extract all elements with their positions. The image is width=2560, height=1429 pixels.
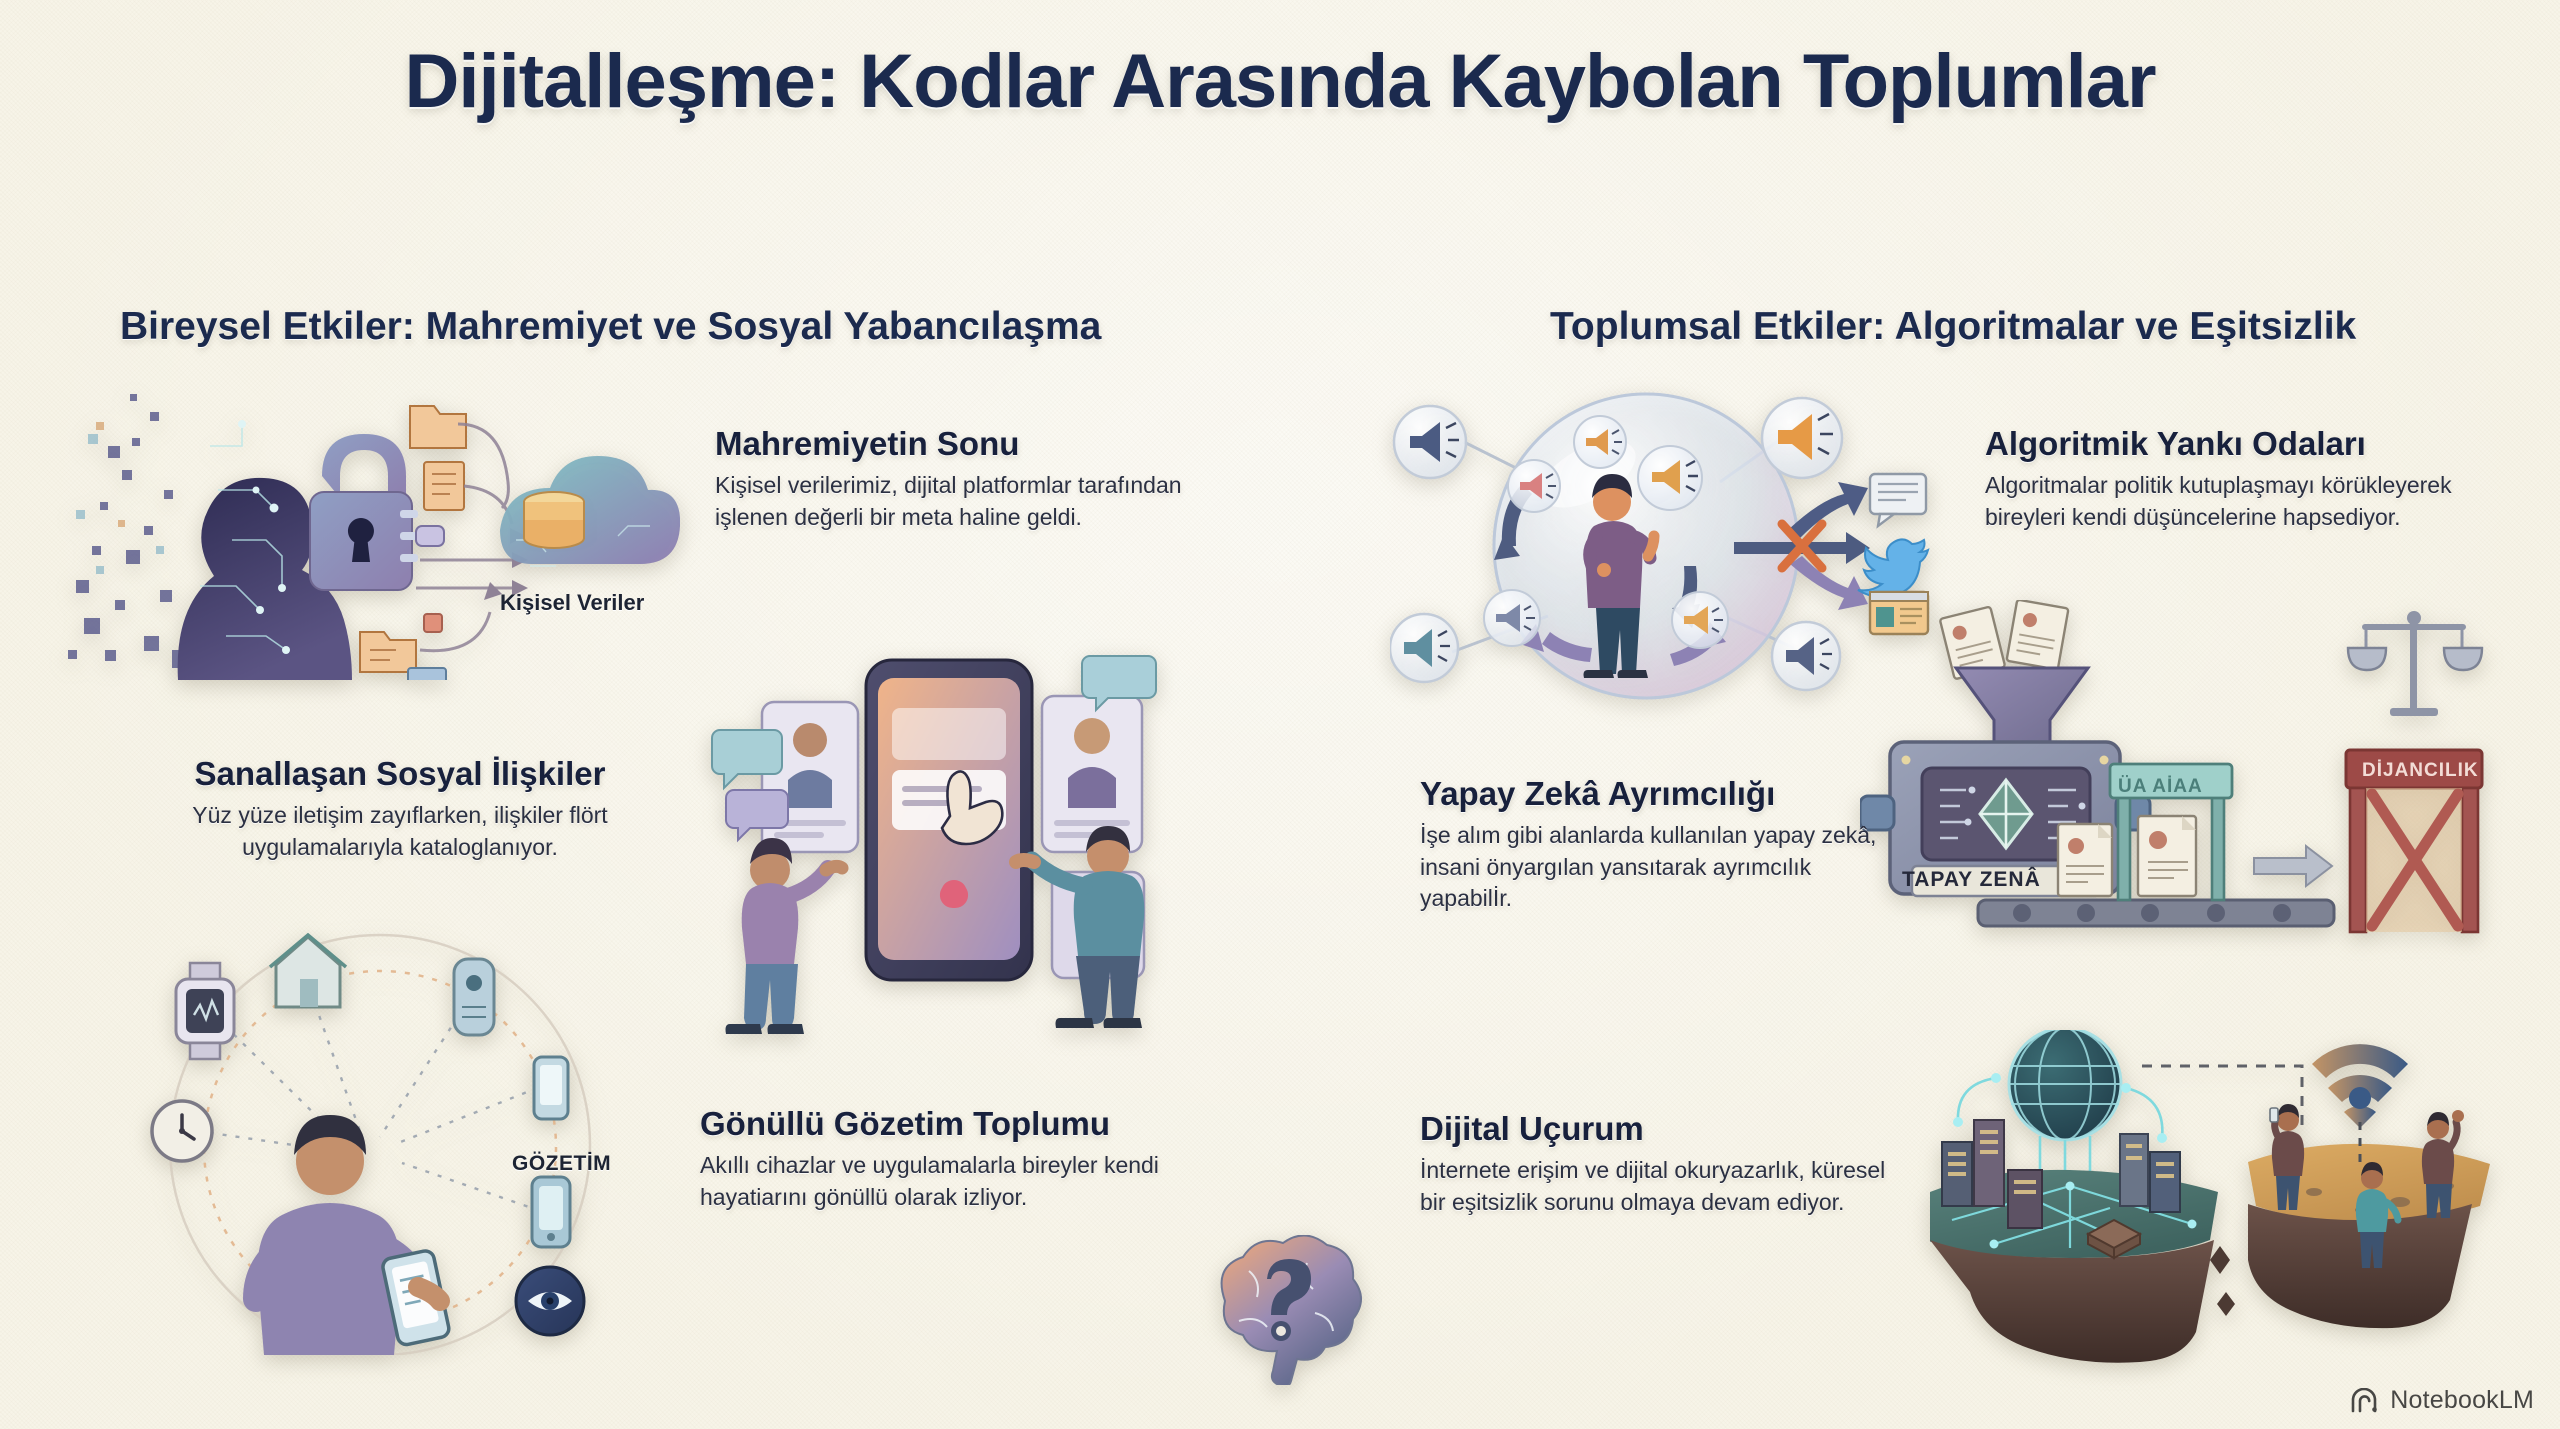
- illustration-social-relationships: [660, 620, 1220, 1040]
- body-ai: İşe alım gibi alanlarda kullanılan yapay…: [1420, 820, 1890, 915]
- body-surveillance: Akıllı cihazlar ve uygulamalarla bireyle…: [700, 1150, 1200, 1213]
- heading-surveillance: Gönüllü Gözetim Toplumu: [700, 1105, 1200, 1143]
- label-surveillance: GÖZETİM: [512, 1152, 611, 1176]
- illustration-voluntary-surveillance: [80, 915, 700, 1355]
- label-ai-machine: TAPAY ZENÂ: [1902, 868, 2041, 892]
- body-echo: Algoritmalar politik kutuplaşmayı körükl…: [1985, 470, 2455, 533]
- brain-question-icon: [1195, 1235, 1375, 1385]
- label-personal-data: Kişisel Veriler: [500, 590, 644, 616]
- page-title: Dijitalleşme: Kodlar Arasında Kaybolan T…: [0, 38, 2560, 125]
- label-ai-rejected: DİJANCILIK: [2362, 760, 2479, 782]
- text-block-surveillance: Gönüllü Gözetim Toplumu Akıllı cihazlar …: [700, 1105, 1200, 1213]
- text-block-digital-divide: Dijital Uçurum İnternete erişim ve dijit…: [1420, 1110, 1900, 1218]
- label-ai-gate: ÜA AİAA: [2118, 776, 2203, 798]
- heading-ai: Yapay Zekâ Ayrımcılığı: [1420, 775, 1890, 813]
- notebooklm-logo-icon: [2350, 1388, 2380, 1414]
- heading-privacy: Mahremiyetin Sonu: [715, 425, 1185, 463]
- heading-social: Sanallaşan Sosyal İlişkiler: [150, 755, 650, 793]
- text-block-ai-discrimination: Yapay Zekâ Ayrımcılığı İşe alım gibi ala…: [1420, 775, 1890, 915]
- section-header-societal: Toplumsal Etkiler: Algoritmalar ve Eşits…: [1550, 305, 2356, 349]
- notebooklm-watermark-label: NotebookLM: [2390, 1386, 2534, 1415]
- heading-echo: Algoritmik Yankı Odaları: [1985, 425, 2455, 463]
- illustration-digital-divide: [1930, 1030, 2490, 1370]
- notebooklm-watermark: NotebookLM: [2350, 1386, 2534, 1415]
- body-privacy: Kişisel verilerimiz, dijital platformlar…: [715, 470, 1185, 533]
- text-block-privacy: Mahremiyetin Sonu Kişisel verilerimiz, d…: [715, 425, 1185, 533]
- text-block-social-relationships: Sanallaşan Sosyal İlişkiler Yüz yüze ile…: [150, 755, 650, 863]
- illustration-privacy-data: [60, 350, 680, 680]
- body-social: Yüz yüze iletişim zayıflarken, ilişkiler…: [150, 800, 650, 863]
- heading-divide: Dijital Uçurum: [1420, 1110, 1900, 1148]
- text-block-echo-chamber: Algoritmik Yankı Odaları Algoritmalar po…: [1985, 425, 2455, 533]
- body-divide: İnternete erişim ve dijital okuryazarlık…: [1420, 1155, 1900, 1218]
- section-header-individual: Bireysel Etkiler: Mahremiyet ve Sosyal Y…: [120, 305, 1101, 349]
